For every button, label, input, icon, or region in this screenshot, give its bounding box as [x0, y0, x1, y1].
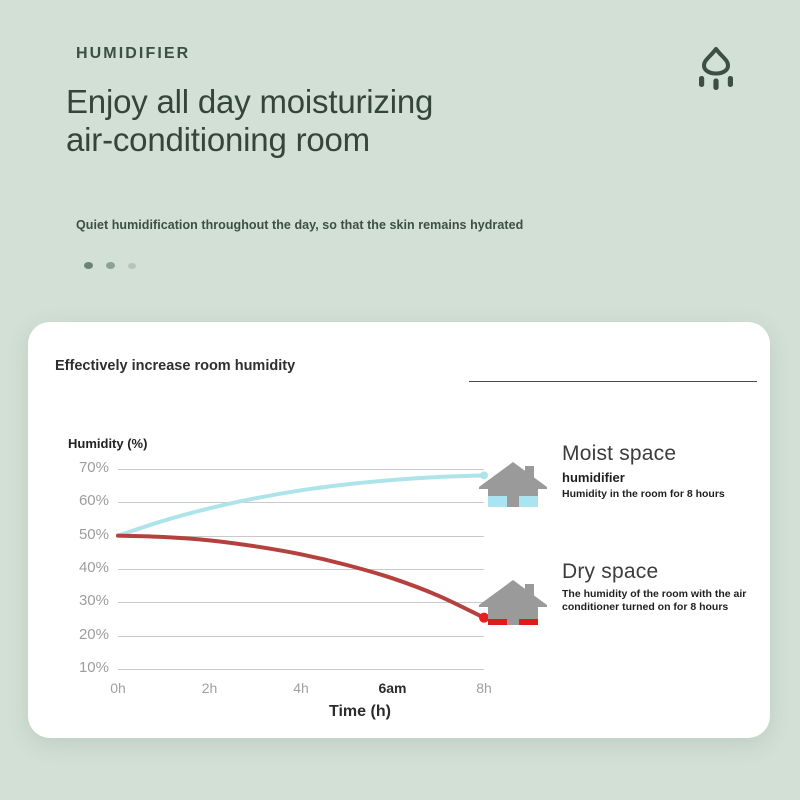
carousel-dots[interactable]: [84, 262, 136, 269]
y-axis-tick-label: 40%: [79, 559, 109, 576]
humidity-line-chart: Humidity (%) 70%60%50%40%30%20%10% 0h2h4…: [40, 422, 500, 722]
gridline: 10%: [118, 669, 484, 670]
y-axis-tick-label: 60%: [79, 492, 109, 509]
house-moist-icon: [476, 456, 550, 514]
x-axis-tick-label: 2h: [202, 680, 218, 696]
chart-legend: Moist space humidifier Humidity in the r…: [476, 442, 766, 678]
hero-subtitle: Quiet humidification throughout the day,…: [76, 218, 523, 232]
x-axis-tick-label: 8h: [476, 680, 492, 696]
legend-title: Dry space: [562, 560, 752, 584]
carousel-dot-1[interactable]: [84, 262, 93, 269]
header-divider: [469, 381, 757, 382]
y-axis-tick-label: 30%: [79, 592, 109, 609]
legend-text-dry: Dry space The humidity of the room with …: [562, 560, 752, 614]
chart-curves: [118, 469, 484, 669]
hero-headline: Enjoy all day moisturizing air-condition…: [66, 83, 486, 159]
y-axis-tick-label: 20%: [79, 626, 109, 643]
hero-banner: HUMIDIFIER Enjoy all day moisturizing ai…: [0, 0, 800, 322]
carousel-dot-3[interactable]: [128, 263, 136, 269]
x-axis-ticks: 0h2h4h6am8h: [118, 680, 498, 702]
chart-line-dry-space: [118, 536, 484, 618]
legend-title: Moist space: [562, 442, 725, 466]
plot-area: 70%60%50%40%30%20%10%: [118, 469, 484, 669]
x-axis-label: Time (h): [329, 703, 391, 721]
legend-item-dry: Dry space The humidity of the room with …: [476, 560, 766, 632]
x-axis-tick-label: 6am: [378, 680, 406, 696]
legend-description: Humidity in the room for 8 hours: [562, 488, 725, 501]
y-axis-label: Humidity (%): [68, 436, 147, 451]
x-axis-tick-label: 4h: [293, 680, 309, 696]
legend-item-moist: Moist space humidifier Humidity in the r…: [476, 442, 766, 514]
legend-description: The humidity of the room with the air co…: [562, 588, 752, 614]
y-axis-tick-label: 10%: [79, 659, 109, 676]
chart-line-moist-space: [118, 475, 484, 535]
hero-eyebrow: HUMIDIFIER: [76, 45, 190, 63]
legend-text-moist: Moist space humidifier Humidity in the r…: [562, 442, 725, 501]
house-dry-icon: [476, 574, 550, 632]
humidity-chart-card: Effectively increase room humidity Humid…: [28, 322, 770, 738]
card-header: Effectively increase room humidity: [55, 355, 745, 385]
legend-subtitle: humidifier: [562, 470, 725, 485]
carousel-dot-2[interactable]: [106, 262, 115, 269]
mist-droplet-icon: [690, 42, 742, 92]
x-axis-tick-label: 0h: [110, 680, 126, 696]
y-axis-tick-label: 50%: [79, 526, 109, 543]
card-title: Effectively increase room humidity: [55, 358, 295, 374]
y-axis-tick-label: 70%: [79, 459, 109, 476]
